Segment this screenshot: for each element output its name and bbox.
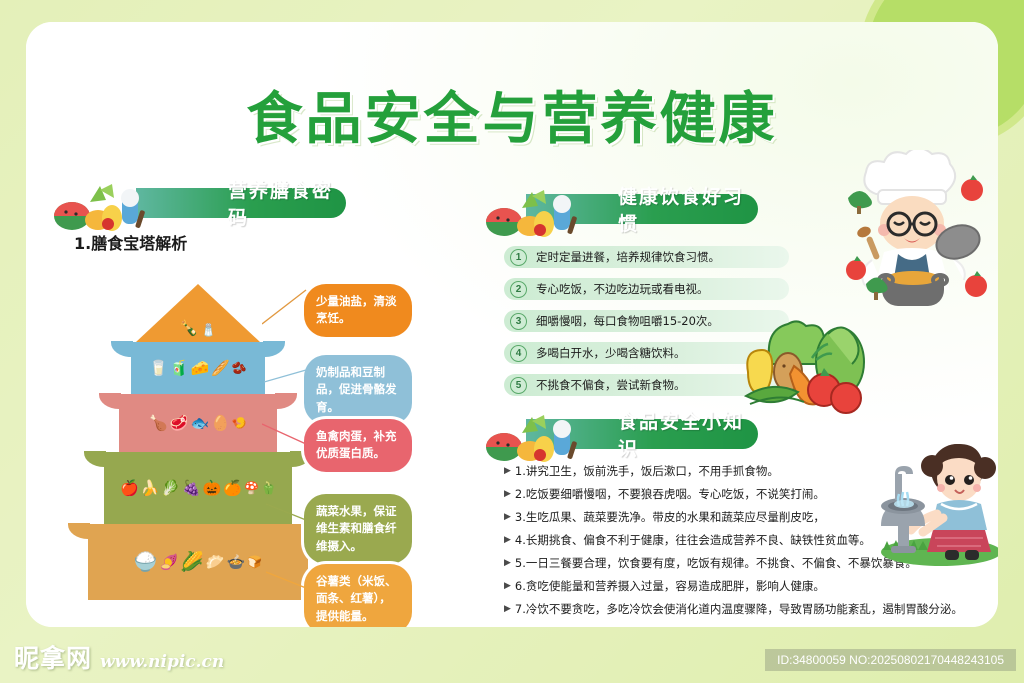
page-title: 食品安全与营养健康 [26,74,998,155]
habit-text: 定时定量进餐，培养规律饮食习惯。 [536,249,720,265]
watermark-url: www.nipic.cn [100,652,224,672]
watermark-brand: 昵拿网 [14,639,92,675]
safety-tip-item: ▶ 4.长期挑食、偏食不利于健康，往往会造成营养不良、缺铁性贫血等。 [504,532,871,548]
callout-vegetable-fruit: 蔬菜水果，保证维生素和膳食纤维摄入。 [304,494,412,564]
safety-tip-text: 3.生吃瓜果、蔬菜要洗净。带皮的水果和蔬菜应尽量削皮吃， [515,509,825,525]
section-header-nutrition-label: 营养膳食密码 [228,176,346,230]
habit-number: 1 [510,249,527,266]
handwashing-girl-illustration [871,430,998,568]
safety-tip-item: ▶ 6.贪吃使能量和营养摄入过量，容易造成肥胖，影响人健康。 [504,578,825,594]
pyramid-tier-oil-salt: 🍾🧂 [136,284,260,342]
habit-text: 不挑食不偏食，尝试新食物。 [536,377,686,393]
pyramid-roof: 🍾🧂 [136,284,260,342]
pyramid-tier-oil-salt-icons: 🍾🧂 [180,321,217,336]
habit-number: 3 [510,313,527,330]
safety-tip-text: 6.贪吃使能量和营养摄入过量，容易造成肥胖，影响人健康。 [515,578,825,594]
pyramid-tier-vegetable-fruit: 🍎🍌🥬🍇🎃🍊🍄🫑 [104,452,292,524]
callout-grain-tuber: 谷薯类（米饭、面条、红薯），提供能量。 [304,564,412,627]
habit-number: 4 [510,345,527,362]
bullet-arrow-icon: ▶ [504,535,511,545]
habit-row: 2 专心吃饭，不边吃边玩或看电视。 [504,278,789,300]
habit-number: 2 [510,281,527,298]
safety-tip-item: ▶ 1.讲究卫生，饭前洗手，饭后漱口，不用手抓食物。 [504,463,779,479]
safety-tip-item: ▶ 5.一日三餐要合理，饮食要有度，吃饭有规律。不挑食、不偏食、不暴饮暴食。 [504,555,917,571]
safety-tip-text: 4.长期挑食、偏食不利于健康，往往会造成营养不良、缺铁性贫血等。 [515,532,871,548]
callout-line-oil-salt [262,284,308,326]
section-header-habits-label: 健康饮食好习惯 [618,182,758,236]
pyramid-tier-meat-body: 🍗🥩🐟🥚🍤 [119,394,277,452]
callout-line-meat [262,422,308,456]
callout-line-dairy [264,366,308,386]
eave-right [263,341,285,357]
habit-text: 多喝白开水，少喝含糖饮料。 [536,345,686,361]
bullet-arrow-icon: ▶ [504,466,511,476]
callout-meat-fish-egg: 鱼禽肉蛋，补充优质蛋白质。 [304,419,412,472]
callout-meat-fish-egg-text: 鱼禽肉蛋，补充优质蛋白质。 [316,429,397,460]
poster-card: 食品安全与营养健康 营养膳食密码 1.膳食宝塔解析 🍾🧂 [26,22,998,627]
habit-text: 细嚼慢咽，每口食物咀嚼15-20次。 [536,313,719,329]
bullet-arrow-icon: ▶ [504,558,511,568]
food-cluster-icon [478,188,586,240]
pyramid-tier-dairy-beans: 🥛🧃🧀🥖🫘 [131,342,265,394]
safety-tip-item: ▶ 2.吃饭要细嚼慢咽，不要狼吞虎咽。专心吃饭，不说笑打闹。 [504,486,825,502]
safety-tip-item: ▶ 3.生吃瓜果、蔬菜要洗净。带皮的水果和蔬菜应尽量削皮吃， [504,509,825,525]
callout-oil-salt-text: 少量油盐，清淡烹饪。 [316,294,397,325]
section-header-safety-label: 食品安全小知识 [618,407,758,461]
vegetable-bunch-illustration [732,314,882,422]
subsection-title: 1.膳食宝塔解析 [74,230,187,254]
habit-number: 5 [510,377,527,394]
food-cluster-icon [478,413,586,465]
bullet-arrow-icon: ▶ [504,489,511,499]
safety-tip-item: ▶ 7.冷饮不要贪吃，多吃冷饮会使消化道内温度骤降，导致胃肠功能紊乱，遏制胃酸分… [504,601,963,617]
habit-text: 专心吃饭，不边吃边玩或看电视。 [536,281,709,297]
habit-row: 1 定时定量进餐，培养规律饮食习惯。 [504,246,789,268]
eave-left [84,451,106,467]
bullet-arrow-icon: ▶ [504,512,511,522]
safety-tip-text: 5.一日三餐要合理，饮食要有度，吃饭有规律。不挑食、不偏食、不暴饮暴食。 [515,555,917,571]
bullet-arrow-icon: ▶ [504,581,511,591]
callout-dairy-beans: 奶制品和豆制品，促进骨骼发育。 [304,355,412,425]
pyramid-tier-dairy-body: 🥛🧃🧀🥖🫘 [131,342,265,394]
callout-grain-tuber-text: 谷薯类（米饭、面条、红薯），提供能量。 [316,574,397,623]
image-id-bar: ID:34800059 NO:20250802170448243105 [765,649,1016,671]
food-cluster-icon [46,182,154,234]
callout-line-grain [266,568,308,598]
eave-left [99,393,121,409]
watermark: 昵拿网 www.nipic.cn [14,639,224,675]
eave-left [111,341,133,357]
safety-tip-text: 7.冷饮不要贪吃，多吃冷饮会使消化道内温度骤降，导致胃肠功能紊乱，遏制胃酸分泌。 [515,601,963,617]
section-header-nutrition: 营养膳食密码 [136,188,346,218]
pyramid-tier-meat-fish-egg: 🍗🥩🐟🥚🍤 [119,394,277,452]
safety-tip-text: 2.吃饭要细嚼慢咽，不要狼吞虎咽。专心吃饭，不说笑打闹。 [515,486,825,502]
callout-line-veg [266,502,308,530]
bullet-arrow-icon: ▶ [504,604,511,614]
callout-dairy-beans-text: 奶制品和豆制品，促进骨骼发育。 [316,365,397,414]
eave-right [275,393,297,409]
pyramid-tier-veg-body: 🍎🍌🥬🍇🎃🍊🍄🫑 [104,452,292,524]
callout-oil-salt: 少量油盐，清淡烹饪。 [304,284,412,337]
callout-vegetable-fruit-text: 蔬菜水果，保证维生素和膳食纤维摄入。 [316,504,397,553]
chef-illustration [826,150,998,308]
safety-tip-text: 1.讲究卫生，饭前洗手，饭后漱口，不用手抓食物。 [515,463,779,479]
